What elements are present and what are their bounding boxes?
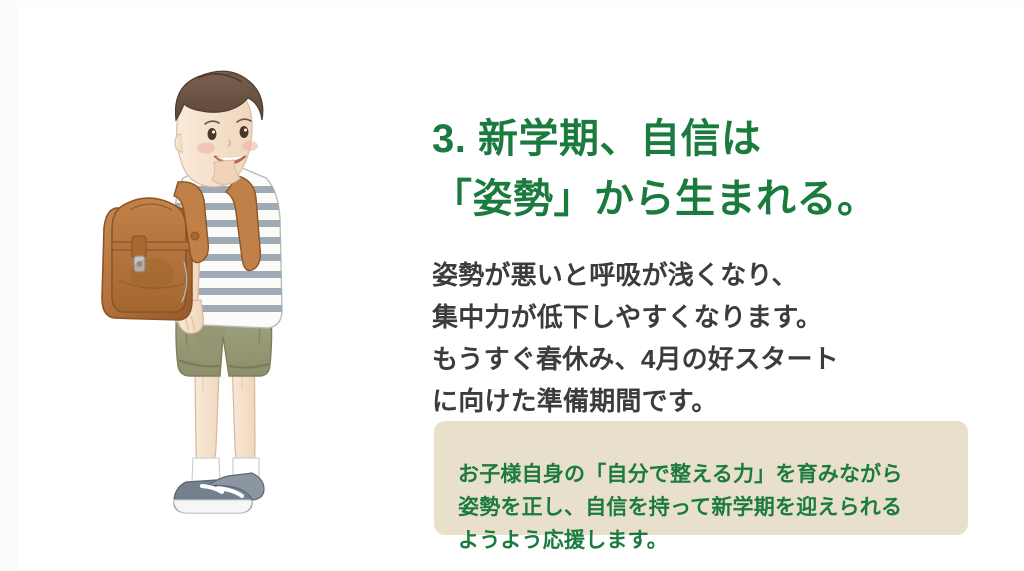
left-edge-band: [0, 0, 18, 571]
sneakers: [174, 473, 264, 513]
schoolboy-with-randoseru-illustration: [78, 30, 378, 555]
slide-root: 3. 新学期、自信は 「姿勢」から生まれる。 姿勢が悪いと呼吸が浅くなり、 集中…: [0, 0, 1024, 571]
page-title: 3. 新学期、自信は 「姿勢」から生まれる。: [432, 109, 972, 229]
highlight-callout-box: お子様自身の「自分で整える力」を育みながら 姿勢を正し、自信を持って新学期を迎え…: [434, 421, 968, 535]
body-paragraph: 姿勢が悪いと呼吸が浅くなり、 集中力が低下しやすくなります。 もうすぐ春休み、4…: [432, 254, 972, 422]
text-column: 3. 新学期、自信は 「姿勢」から生まれる。 姿勢が悪いと呼吸が浅くなり、 集中…: [432, 0, 992, 571]
highlight-callout-text: お子様自身の「自分で整える力」を育みながら 姿勢を正し、自信を持って新学期を迎え…: [458, 458, 948, 557]
